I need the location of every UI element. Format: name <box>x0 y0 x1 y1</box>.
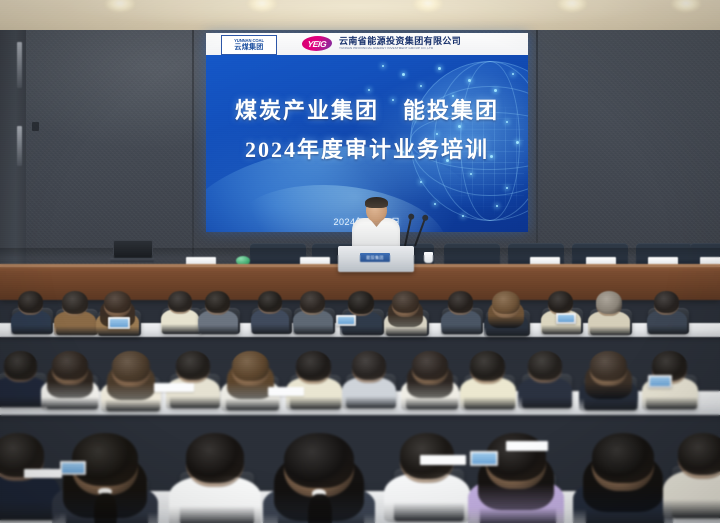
audience-member <box>296 351 331 418</box>
audience-laptop <box>556 313 576 324</box>
audience-member <box>205 291 230 341</box>
audience-member-hair <box>112 351 150 382</box>
audience-member-hair <box>176 351 210 380</box>
audience-member <box>300 291 325 341</box>
audience-member <box>284 433 354 523</box>
yeig-chinese: 云南省能源投资集团有限公司 <box>339 37 461 46</box>
yeig-wordmark: 云南省能源投资集团有限公司 YUNNAN PROVINCIAL ENERGY I… <box>339 37 461 50</box>
yunnan-coal-english: YUNNAN COAL <box>234 39 264 43</box>
audience-member-hair <box>412 351 448 380</box>
pillar-strip-upper <box>17 42 22 88</box>
audience-member <box>18 291 43 341</box>
audience-paper <box>268 387 304 396</box>
audience-member <box>112 351 150 421</box>
audience-member-hair <box>448 291 473 313</box>
audience-member-hair <box>528 351 562 380</box>
audience-member-hair <box>678 433 720 475</box>
audience-member <box>592 433 654 523</box>
particle-dot <box>402 73 405 76</box>
audience-member <box>168 291 192 340</box>
audience-member-hair <box>492 291 520 314</box>
audience-member <box>52 351 88 419</box>
wall-vent <box>32 122 39 131</box>
audience-member <box>528 351 562 417</box>
particle-dot <box>420 85 422 87</box>
presentation-title: 煤炭产业集团 能投集团 2024年度审计业务培训 <box>206 95 528 166</box>
yeig-logo: YEIG 云南省能源投资集团有限公司 YUNNAN PROVINCIAL ENE… <box>302 36 461 51</box>
audience-member-hair <box>52 351 88 380</box>
audience-member-ponytail <box>94 493 116 523</box>
audience-paper <box>506 441 548 451</box>
audience-laptop <box>470 451 498 466</box>
audience-member-hair <box>168 291 192 312</box>
audience-member <box>448 291 473 341</box>
audience-member-hair <box>348 291 374 314</box>
yunnan-coal-group-logo: YUNNAN COAL 云煤集团 <box>221 35 277 55</box>
audience-member-hair <box>296 351 331 381</box>
audience-member <box>596 291 622 342</box>
audience-member <box>392 291 419 343</box>
audience-member <box>72 433 138 523</box>
particle-dot <box>368 89 370 91</box>
audience-member-hair <box>72 433 138 486</box>
audience-paper <box>420 455 466 465</box>
audience-member <box>0 433 44 523</box>
audience-member <box>400 433 454 523</box>
audience-member-hair <box>18 291 43 313</box>
audience-member <box>352 351 386 417</box>
audience-laptop <box>108 317 130 329</box>
audience-member <box>186 433 244 523</box>
audience-member-hair <box>392 291 419 313</box>
yunnan-coal-chinese: 云煤集团 <box>234 44 263 51</box>
audience-member-hair <box>596 291 622 314</box>
audience-member-hair <box>592 433 654 483</box>
particle-dot <box>382 65 384 67</box>
particle-dot <box>438 67 441 70</box>
audience-paper <box>24 469 62 478</box>
wall-seam-left <box>192 30 194 270</box>
speaker-hair <box>365 197 388 208</box>
audience-member <box>412 351 448 419</box>
audience-member-ponytail <box>308 494 332 523</box>
audience-member <box>470 351 505 418</box>
audience-member <box>492 291 520 344</box>
pillar-strip-lower <box>17 126 22 166</box>
audience-member-hair <box>300 291 325 313</box>
audience-member <box>654 291 679 341</box>
audience-member-hair <box>205 291 230 313</box>
audience-member <box>258 291 282 340</box>
title-line-2: 2024年度审计业务培训 <box>206 134 528 167</box>
audience-member-hair <box>590 351 627 381</box>
yeig-mark-icon: YEIG <box>301 36 333 51</box>
audience-member <box>232 351 269 420</box>
audience-member-hair <box>258 291 282 312</box>
wall-seam-right <box>536 30 538 270</box>
audience-member <box>590 351 627 420</box>
title-line-1: 煤炭产业集团 能投集团 <box>206 95 528 128</box>
audience-member-hair <box>654 291 679 313</box>
audience-member <box>4 351 37 416</box>
yeig-english: YUNNAN PROVINCIAL ENERGY INVESTMENT GROU… <box>339 47 461 50</box>
speaker-person <box>352 198 400 250</box>
audience-area <box>0 255 720 523</box>
audience-member <box>62 291 88 342</box>
audience-paper <box>154 383 194 392</box>
audience-laptop <box>648 375 672 388</box>
audience-member-hair <box>548 291 573 313</box>
audience-laptop <box>336 315 356 326</box>
audience-member-hair <box>62 291 88 314</box>
conference-room-photo: 煤炭产业集团 能投集团 2024年度审计业务培训 2024年10月3日 YUNN… <box>0 0 720 523</box>
audience-laptop <box>60 461 86 475</box>
screen-logo-banner: YUNNAN COAL 云煤集团 YEIG 云南省能源投资集团有限公司 YUNN… <box>206 33 528 55</box>
audience-member-hair <box>232 351 269 381</box>
audience-member-hair <box>104 291 131 313</box>
audience-member-hair <box>4 351 37 380</box>
audience-member-hair <box>352 351 386 380</box>
yeig-mark-text: YEIG <box>307 39 327 49</box>
audience-member-hair <box>186 433 244 483</box>
audience-member <box>678 433 720 523</box>
audience-member-hair <box>470 351 505 381</box>
audience-member-hair <box>284 433 354 488</box>
wall-pillar <box>0 30 26 270</box>
